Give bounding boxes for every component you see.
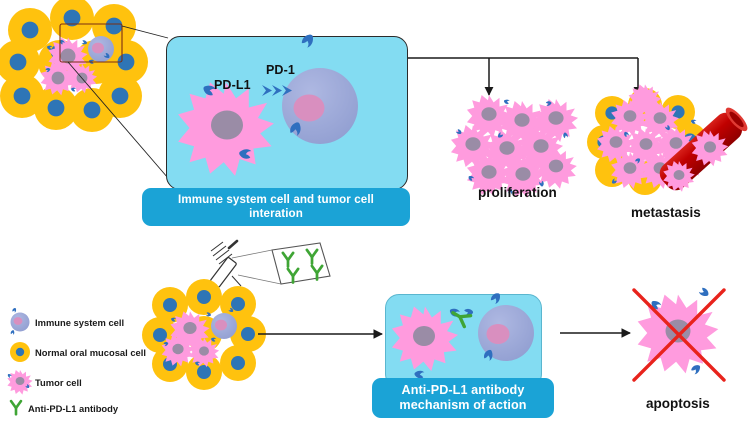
legend-item-immune-system-cell-label: Immune system cell: [35, 317, 124, 328]
treated-tissue-cluster: [142, 279, 266, 390]
apoptosis-label: apoptosis: [646, 396, 710, 411]
source-tissue-cluster: [0, 0, 148, 132]
legend-item-tumor-cell-label: Tumor cell: [35, 377, 82, 388]
immune-cell-icon: [11, 308, 30, 335]
pd-1-label: PD-1: [266, 63, 295, 77]
legend-item-anti-pd-l1-antibody-label: Anti-PD-L1 antibody: [28, 403, 118, 414]
mucosal-cell-icon: [10, 342, 30, 362]
figure-canvas: PD-L1 PD-1 Immune system cell and tumor …: [0, 0, 754, 425]
mechanism-panel-caption: Anti-PD-L1 antibody mechanism of action: [372, 378, 554, 418]
interaction-panel-box: [166, 36, 408, 190]
infiltrating-immune-cell: [88, 36, 114, 62]
mechanism-panel-box: [385, 294, 542, 388]
mechanism-caption-line-2: mechanism of action: [393, 398, 532, 413]
metastasis-label: metastasis: [631, 205, 701, 220]
interaction-panel-caption: Immune system cell and tumor cell intera…: [142, 188, 410, 226]
interaction-caption-line-2: interation: [172, 207, 380, 221]
pd-l1-label: PD-L1: [214, 78, 251, 92]
antibody-inset-box: [232, 243, 330, 284]
proliferation-label: proliferation: [478, 185, 557, 200]
legend-icons: [7, 308, 33, 415]
proliferation-cell-cluster: [451, 95, 578, 198]
antibody-icon: [11, 401, 21, 414]
treated-immune-cell: [211, 313, 237, 339]
mechanism-caption-line-1: Anti-PD-L1 antibody: [393, 383, 532, 398]
legend-item-normal-oral-mucosal-cell-label: Normal oral mucosal cell: [35, 347, 146, 358]
tumor-cell-icon: [7, 370, 33, 395]
outcome-fork-arrows: [404, 58, 638, 95]
interaction-caption-line-1: Immune system cell and tumor cell: [172, 193, 380, 207]
